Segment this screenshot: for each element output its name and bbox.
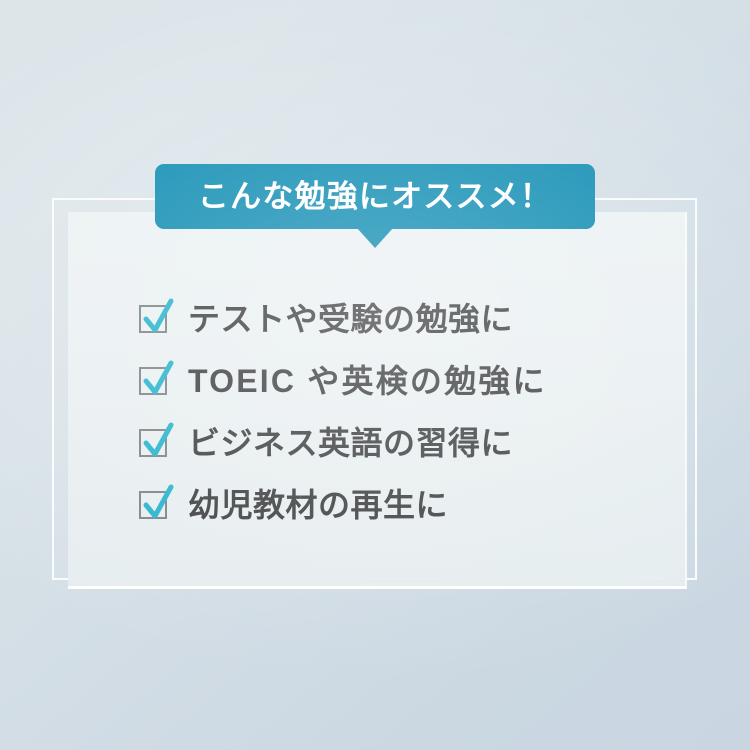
promo-graphic: こんな勉強にオススメ！ テストや受験の勉強に TOEIC や英検の勉強に (0, 0, 750, 750)
list-item-label: テストや受験の勉強に (188, 303, 513, 335)
headline-banner-pointer-icon (357, 228, 393, 248)
checkbox-checked-icon (139, 367, 167, 395)
headline-banner-label: こんな勉強にオススメ！ (198, 181, 552, 212)
checkbox-checked-icon (139, 491, 167, 519)
list-item-label: 幼児教材の再生に (188, 489, 448, 521)
checkbox-checked-icon (139, 429, 167, 457)
headline-banner: こんな勉強にオススメ！ (155, 164, 595, 229)
list-item: 幼児教材の再生に (139, 474, 639, 536)
checklist: テストや受験の勉強に TOEIC や英検の勉強に ビジネス英語の習得に (139, 288, 639, 536)
list-item: テストや受験の勉強に (139, 288, 639, 350)
list-item: ビジネス英語の習得に (139, 412, 639, 474)
list-item: TOEIC や英検の勉強に (139, 350, 639, 412)
checkbox-checked-icon (139, 305, 167, 333)
list-item-label: ビジネス英語の習得に (188, 427, 513, 459)
list-item-label: TOEIC や英検の勉強に (188, 365, 547, 397)
